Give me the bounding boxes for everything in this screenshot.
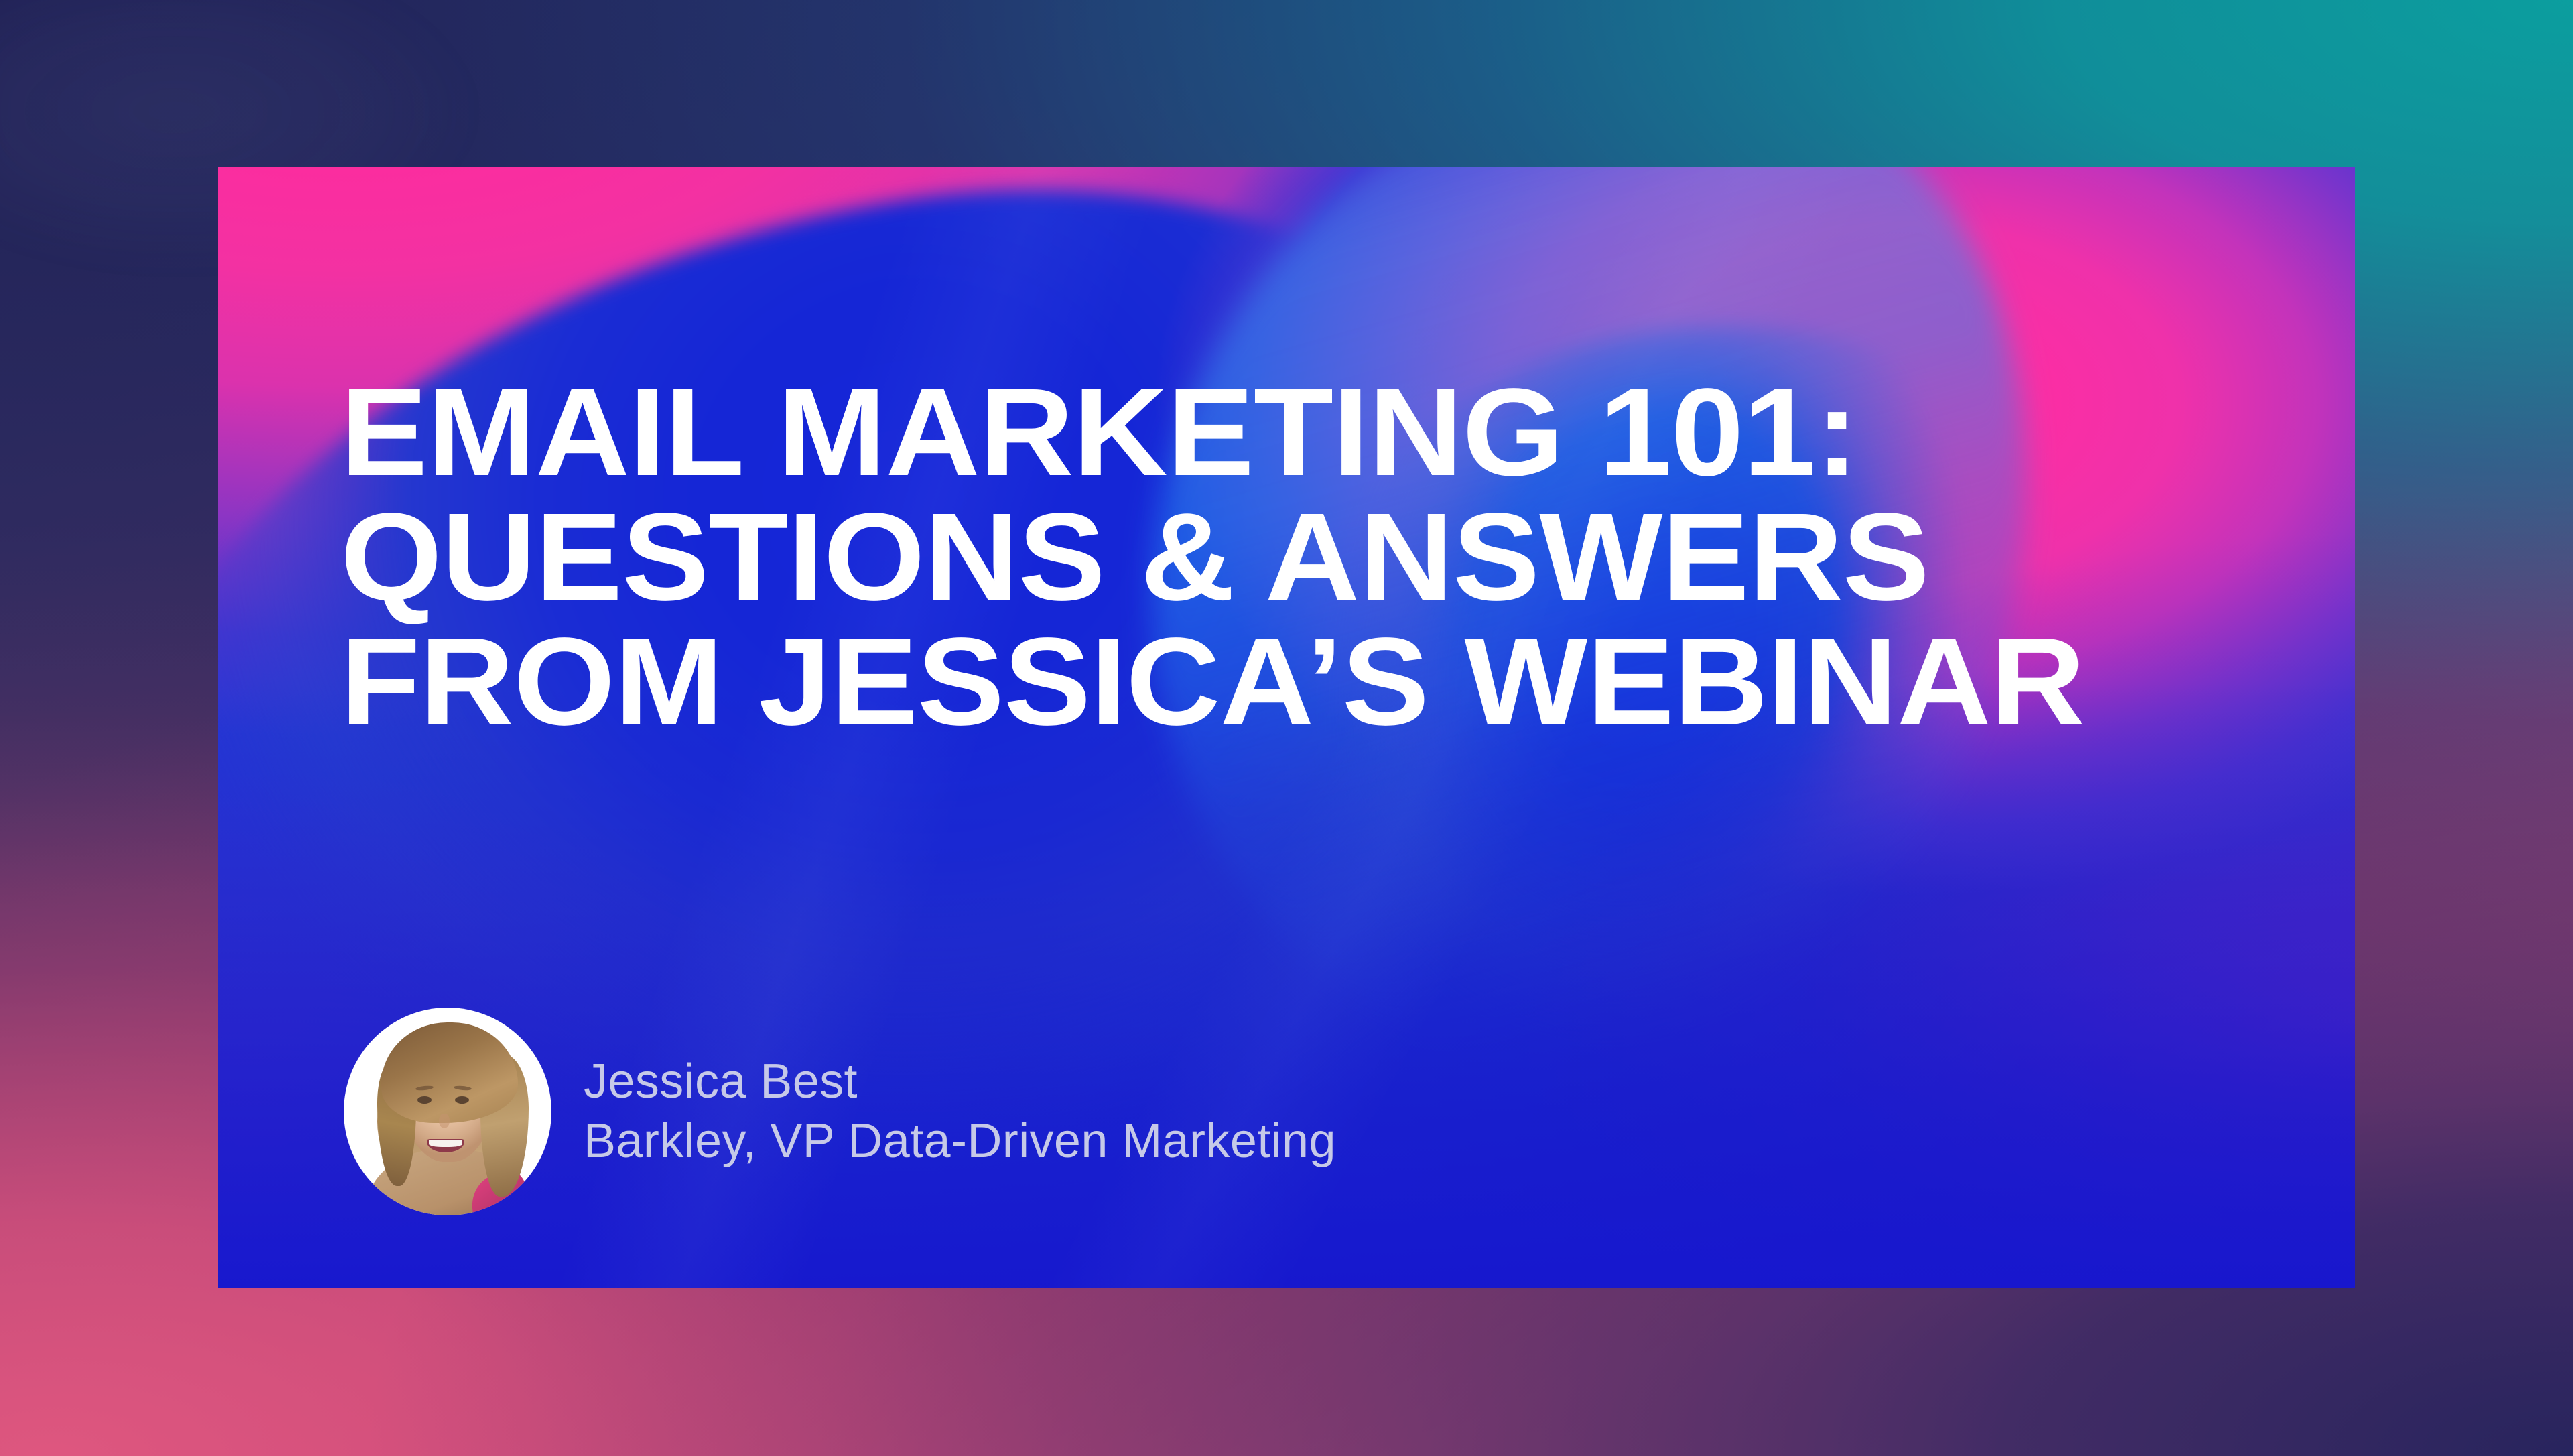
card-content: EMAIL MARKETING 101: QUESTIONS & ANSWERS…: [340, 167, 2355, 1288]
avatar-eye-right: [455, 1096, 469, 1104]
speaker-block: Jessica Best Barkley, VP Data-Driven Mar…: [344, 1008, 1336, 1215]
avatar-hair-front: [381, 1022, 518, 1123]
speaker-name: Jessica Best: [584, 1052, 1336, 1112]
avatar-eye-left: [417, 1096, 432, 1104]
speaker-role: Barkley, VP Data-Driven Marketing: [584, 1112, 1336, 1171]
poster-canvas: EMAIL MARKETING 101: QUESTIONS & ANSWERS…: [0, 0, 2573, 1456]
avatar-teeth: [429, 1140, 462, 1147]
speaker-text: Jessica Best Barkley, VP Data-Driven Mar…: [584, 1052, 1336, 1172]
page-title: EMAIL MARKETING 101: QUESTIONS & ANSWERS…: [340, 371, 2085, 744]
webinar-poster-card: EMAIL MARKETING 101: QUESTIONS & ANSWERS…: [218, 167, 2355, 1288]
avatar: [344, 1008, 551, 1215]
avatar-nose: [439, 1114, 450, 1128]
